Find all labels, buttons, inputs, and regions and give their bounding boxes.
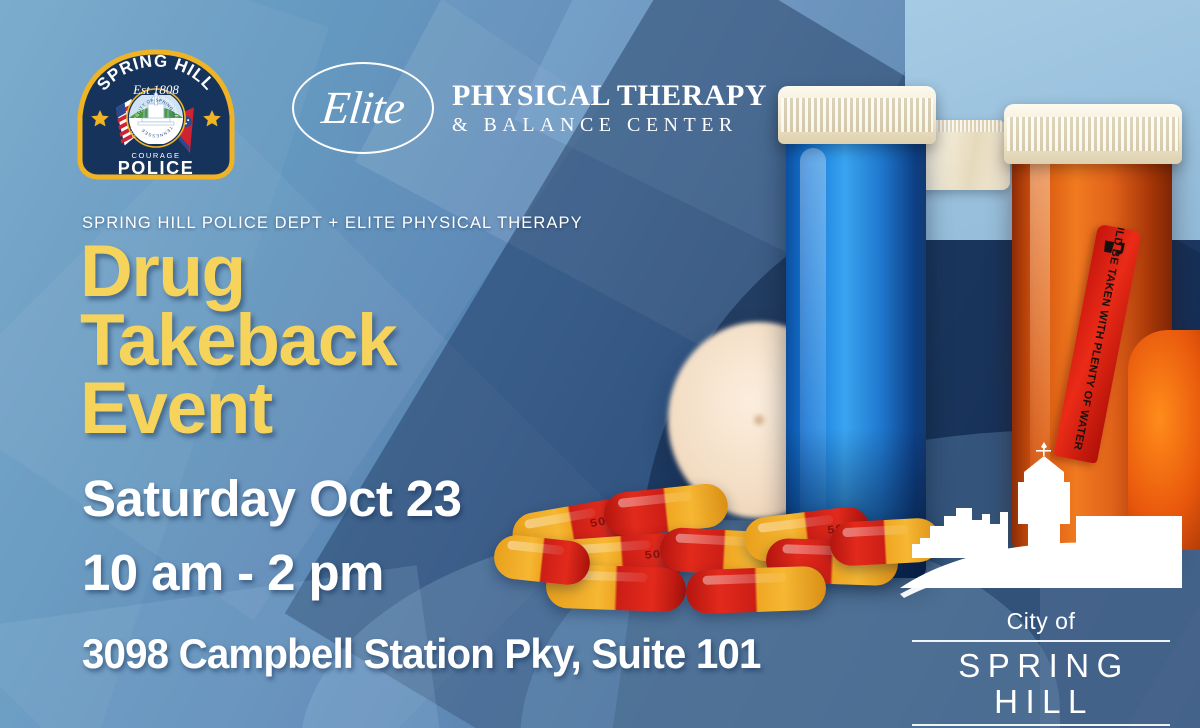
headline-line-1: Drug — [80, 238, 640, 307]
elite-line-2: & BALANCE CENTER — [452, 115, 767, 135]
city-rule-mid — [912, 724, 1170, 726]
spring-hill-skyline-icon — [898, 438, 1184, 618]
elite-physical-therapy-logo: Elite PHYSICAL THERAPY & BALANCE CENTER — [292, 62, 767, 154]
capsule — [685, 566, 826, 615]
amber-bottle-cap-icon — [1004, 104, 1182, 164]
page-title: Drug Takeback Event — [80, 238, 640, 444]
event-time: 10 am - 2 pm — [82, 536, 642, 610]
city-name-label: SPRING HILL — [898, 645, 1184, 722]
city-logo-wordmark: City of SPRING HILL TENNESSEE est. 1809 — [898, 610, 1184, 728]
event-schedule: Saturday Oct 23 10 am - 2 pm — [82, 462, 642, 610]
headline-line-2: Takeback — [80, 307, 640, 376]
city-of-label: City of — [898, 610, 1184, 637]
spring-hill-police-badge: SPRING HILL — [76, 48, 236, 180]
elite-wordmark: PHYSICAL THERAPY & BALANCE CENTER — [452, 81, 767, 135]
drug-takeback-event-poster: THIS MED SHOULD BE TAKEN WITH PLENTY OF … — [0, 0, 1200, 728]
event-address: 3098 Campbell Station Pky, Suite 101 — [82, 630, 761, 678]
headline-line-3: Event — [80, 375, 640, 444]
elite-monogram: Elite — [320, 85, 407, 131]
elite-oval-frame: Elite — [292, 62, 434, 154]
city-of-spring-hill-logo: City of SPRING HILL TENNESSEE est. 1809 — [898, 438, 1184, 720]
svg-text:Est 1808: Est 1808 — [132, 82, 179, 97]
svg-text:POLICE: POLICE — [118, 158, 195, 178]
city-rule-top — [912, 640, 1170, 642]
event-date: Saturday Oct 23 — [82, 462, 642, 536]
blue-bottle-cap-icon — [778, 86, 936, 144]
elite-line-1: PHYSICAL THERAPY — [452, 81, 767, 111]
